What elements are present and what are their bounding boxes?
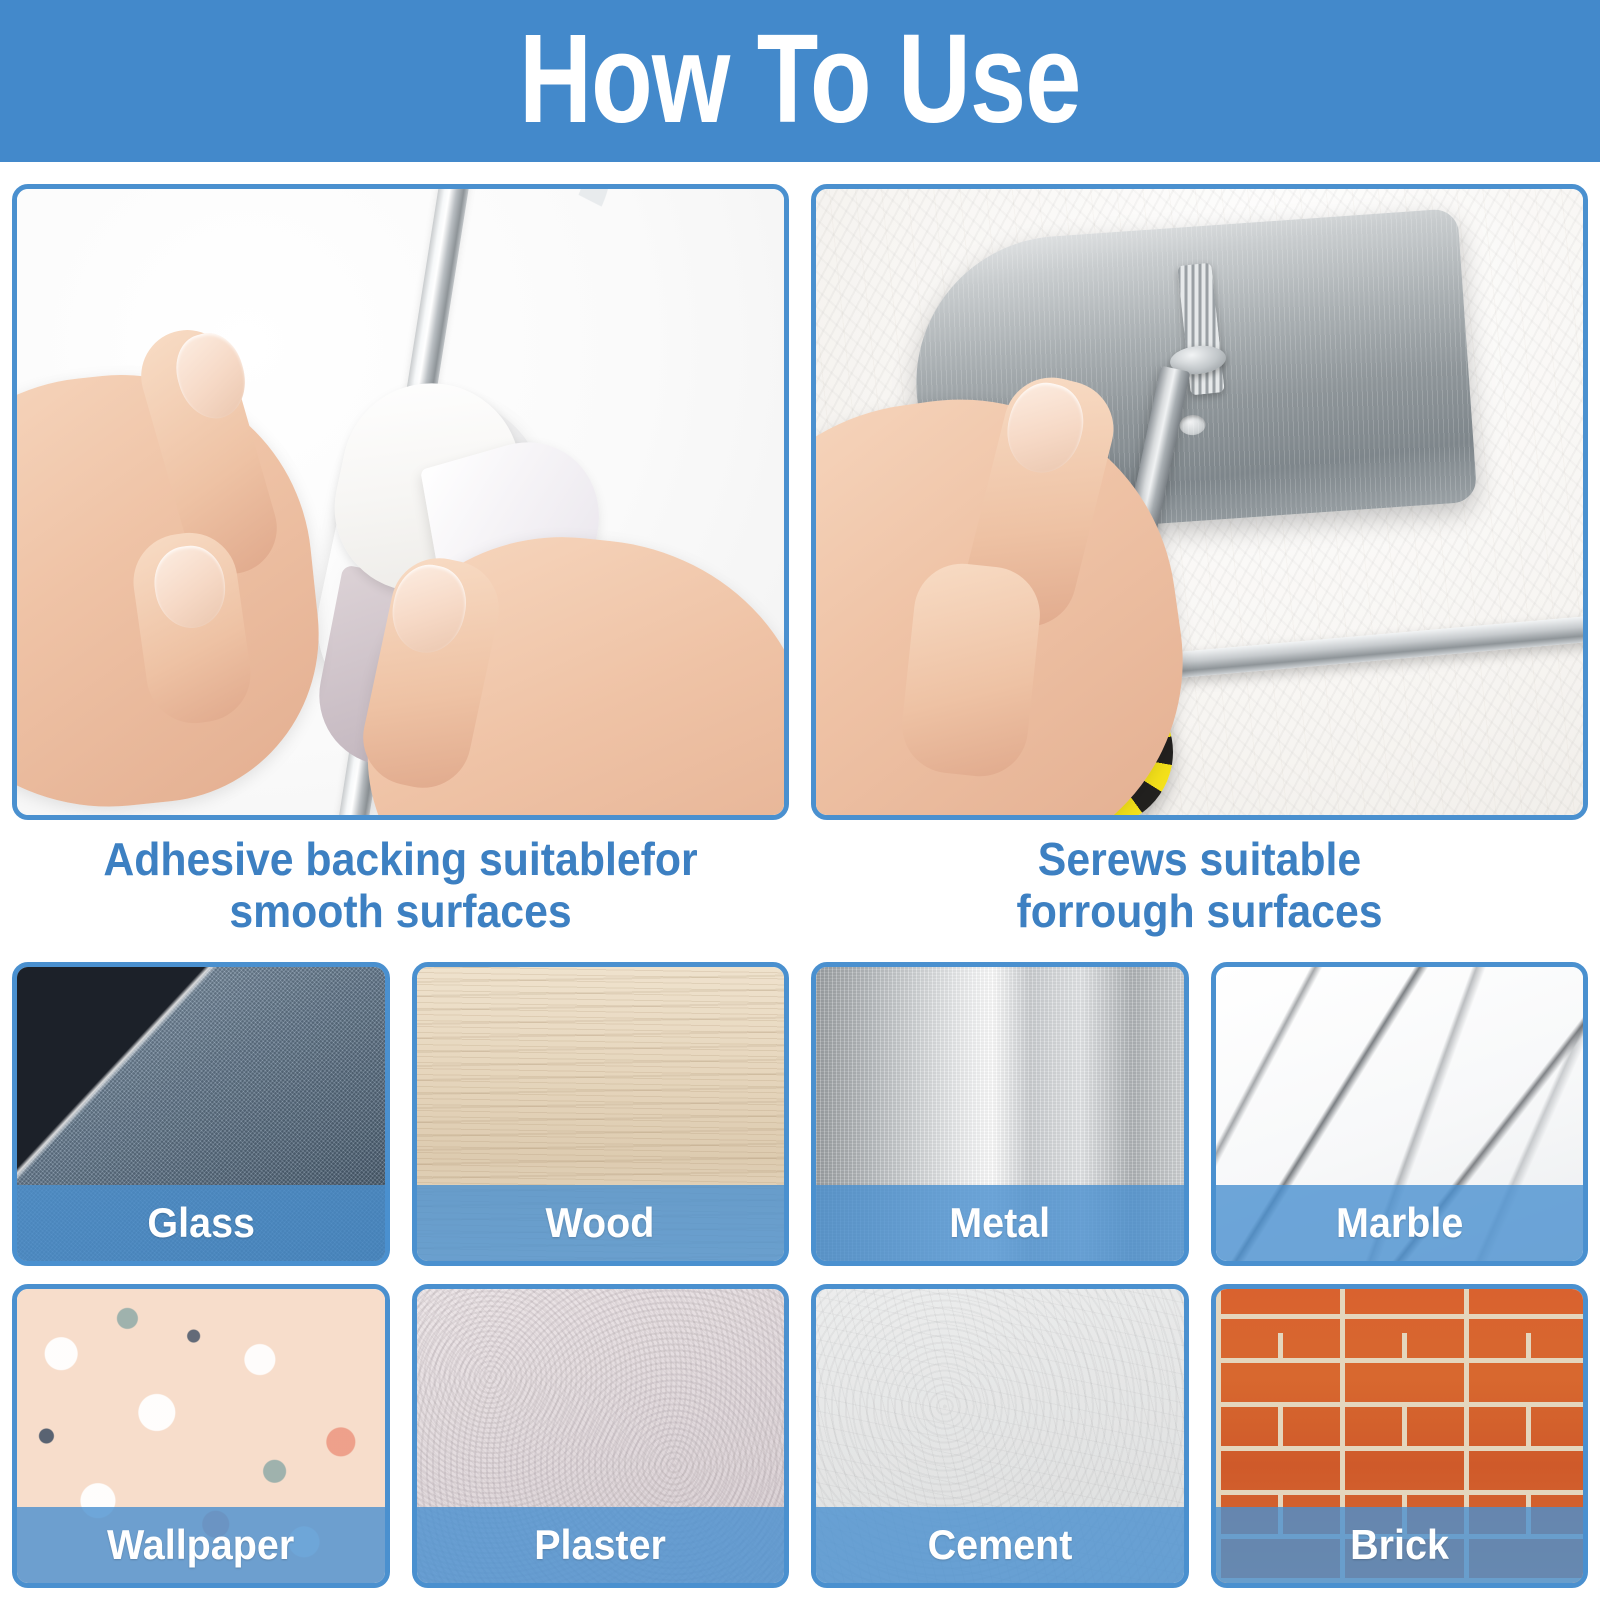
surface-label-glass: Glass <box>17 1185 385 1261</box>
surface-label-cement: Cement <box>816 1507 1184 1583</box>
surface-card-metal[interactable]: Metal <box>811 962 1189 1266</box>
wood-label-text: Wood <box>546 1199 655 1247</box>
caption-adhesive: Adhesive backing suitablefor smooth surf… <box>39 834 762 954</box>
page-title: How To Use <box>519 16 1080 142</box>
caption-adhesive-line2: smooth surfaces <box>103 886 697 938</box>
plate-screw-hole <box>1178 414 1205 436</box>
surface-grid-rough: Metal Marble Cement Brick <box>811 962 1588 1588</box>
surface-card-brick[interactable]: Brick <box>1211 1284 1589 1588</box>
caption-adhesive-line1: Adhesive backing suitablefor <box>103 834 697 886</box>
surface-card-plaster[interactable]: Plaster <box>412 1284 790 1588</box>
photo-adhesive-content <box>17 189 784 815</box>
surface-grid-smooth: Glass Wood Wallpaper Plaster <box>12 962 789 1588</box>
surface-label-marble: Marble <box>1216 1185 1584 1261</box>
photo-screw-step <box>811 184 1588 820</box>
glass-label-text: Glass <box>147 1199 255 1247</box>
surface-card-cement[interactable]: Cement <box>811 1284 1189 1588</box>
surface-label-brick: Brick <box>1216 1507 1584 1583</box>
cement-label-text: Cement <box>927 1521 1072 1569</box>
surface-card-glass[interactable]: Glass <box>12 962 390 1266</box>
surface-label-metal: Metal <box>816 1185 1184 1261</box>
caption-screws-line1: Serews suitable <box>1016 834 1382 886</box>
marble-label-text: Marble <box>1336 1199 1463 1247</box>
surface-card-wallpaper[interactable]: Wallpaper <box>12 1284 390 1588</box>
surface-label-plaster: Plaster <box>417 1507 785 1583</box>
surface-label-wood: Wood <box>417 1185 785 1261</box>
surface-card-wood[interactable]: Wood <box>412 962 790 1266</box>
caption-row: Adhesive backing suitablefor smooth surf… <box>12 834 1588 954</box>
header-banner: How To Use <box>0 0 1600 162</box>
brick-label-text: Brick <box>1350 1521 1449 1569</box>
how-to-use-infographic: How To Use <box>0 0 1600 1600</box>
surface-grids: Glass Wood Wallpaper Plaster <box>12 962 1588 1588</box>
plaster-label-text: Plaster <box>534 1521 666 1569</box>
surface-label-wallpaper: Wallpaper <box>17 1507 385 1583</box>
photo-screw-content <box>816 189 1583 815</box>
metal-label-text: Metal <box>949 1199 1050 1247</box>
surface-card-marble[interactable]: Marble <box>1211 962 1589 1266</box>
caption-screws: Serews suitable forrough surfaces <box>838 834 1561 954</box>
photo-adhesive-step <box>12 184 789 820</box>
screw-hand-index-finger <box>897 559 1044 781</box>
instruction-photo-row <box>12 184 1588 820</box>
wallpaper-label-text: Wallpaper <box>107 1521 294 1569</box>
caption-screws-line2: forrough surfaces <box>1016 886 1382 938</box>
